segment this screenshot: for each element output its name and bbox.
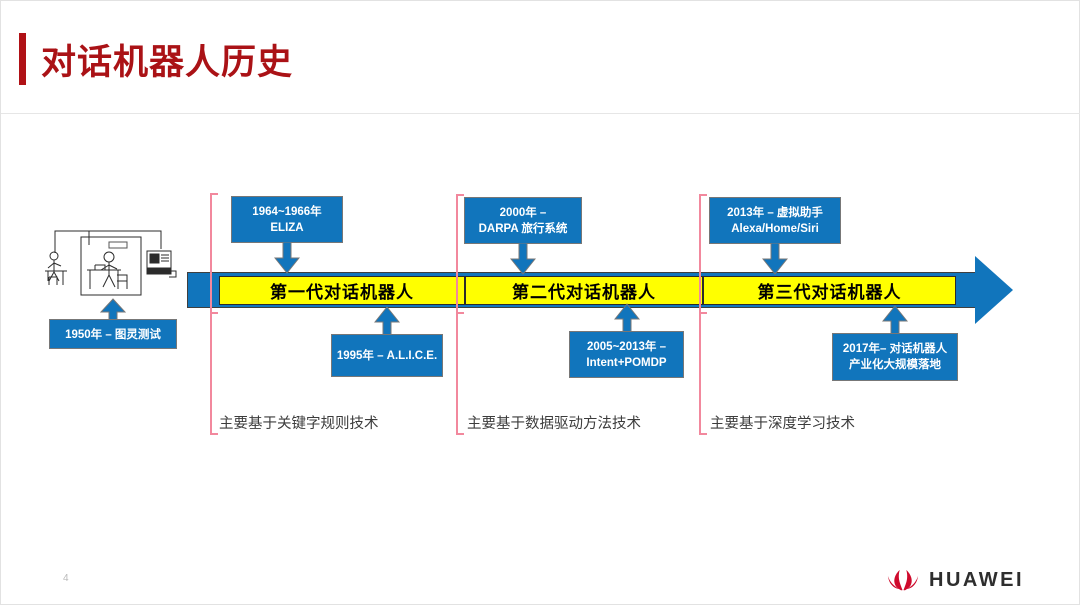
huawei-logo: HUAWEI: [886, 567, 1024, 593]
callout-line-2: DARPA 旅行系统: [479, 221, 568, 237]
slide-canvas: 对话机器人历史: [0, 0, 1080, 605]
page-number: 4: [63, 573, 69, 584]
callout-industrialization[interactable]: 2017年– 对话机器人 产业化大规模落地: [832, 333, 958, 381]
title-accent-bar: [19, 33, 26, 85]
bracket-line-1: [210, 193, 212, 435]
bracket-tick-1-bottom: [210, 433, 218, 435]
timeline-segment-label: 第二代对话机器人: [512, 278, 656, 303]
title-divider: [1, 113, 1080, 114]
bracket-tick-3-bottom: [699, 433, 707, 435]
callout-virtual-assistant[interactable]: 2013年 – 虚拟助手 Alexa/Home/Siri: [709, 197, 841, 244]
bracket-tick-2-mid: [456, 312, 464, 314]
turing-test-illustration-icon: [43, 219, 178, 301]
callout-line-1: 1964~1966年: [252, 204, 321, 220]
timeline-segment-label: 第一代对话机器人: [270, 278, 414, 303]
arrow-down-icon-eliza: [274, 242, 300, 274]
callout-turing-test[interactable]: 1950年 – 图灵测试: [49, 319, 177, 349]
callout-eliza[interactable]: 1964~1966年 ELIZA: [231, 196, 343, 243]
caption-gen-3: 主要基于深度学习技术: [710, 412, 855, 433]
callout-line-2: Alexa/Home/Siri: [731, 221, 819, 237]
bracket-tick-2-top: [456, 194, 464, 196]
callout-line-2: ELIZA: [270, 220, 303, 236]
bracket-line-3: [699, 194, 701, 435]
callout-darpa[interactable]: 2000年 – DARPA 旅行系统: [464, 197, 582, 244]
callout-line-1: 1995年 – A.L.I.C.E.: [337, 348, 437, 364]
callout-line-2: 产业化大规模落地: [849, 357, 941, 373]
callout-line-1: 2000年 –: [500, 205, 547, 221]
callout-pomdp[interactable]: 2005~2013年 – Intent+POMDP: [569, 331, 684, 378]
callout-line-2: Intent+POMDP: [586, 355, 666, 371]
timeline-segment-gen-1[interactable]: 第一代对话机器人: [219, 276, 465, 305]
caption-gen-2: 主要基于数据驱动方法技术: [467, 412, 641, 433]
timeline-segment-label: 第三代对话机器人: [758, 278, 902, 303]
bracket-tick-1-mid: [210, 312, 218, 314]
bracket-tick-2-bottom: [456, 433, 464, 435]
callout-alice[interactable]: 1995年 – A.L.I.C.E.: [331, 334, 443, 377]
bracket-tick-3-mid: [699, 312, 707, 314]
caption-gen-1: 主要基于关键字规则技术: [219, 412, 379, 433]
arrow-down-icon-darpa: [510, 243, 536, 275]
timeline-segment-gen-2[interactable]: 第二代对话机器人: [465, 276, 703, 305]
callout-line-1: 2005~2013年 –: [587, 339, 666, 355]
bracket-tick-1-top: [210, 193, 218, 195]
callout-line-1: 2013年 – 虚拟助手: [727, 205, 823, 221]
timeline-segment-gen-3[interactable]: 第三代对话机器人: [703, 276, 956, 305]
callout-line-1: 2017年– 对话机器人: [843, 341, 947, 357]
bracket-line-2: [456, 194, 458, 435]
arrow-down-icon-virtual-assistant: [762, 243, 788, 275]
callout-line-1: 1950年 – 图灵测试: [65, 326, 161, 342]
huawei-wordmark: HUAWEI: [929, 569, 1024, 592]
huawei-flower-icon: [886, 567, 920, 593]
page-title: 对话机器人历史: [41, 34, 293, 85]
bracket-tick-3-top: [699, 194, 707, 196]
timeline-arrow-head-icon: [975, 256, 1013, 324]
